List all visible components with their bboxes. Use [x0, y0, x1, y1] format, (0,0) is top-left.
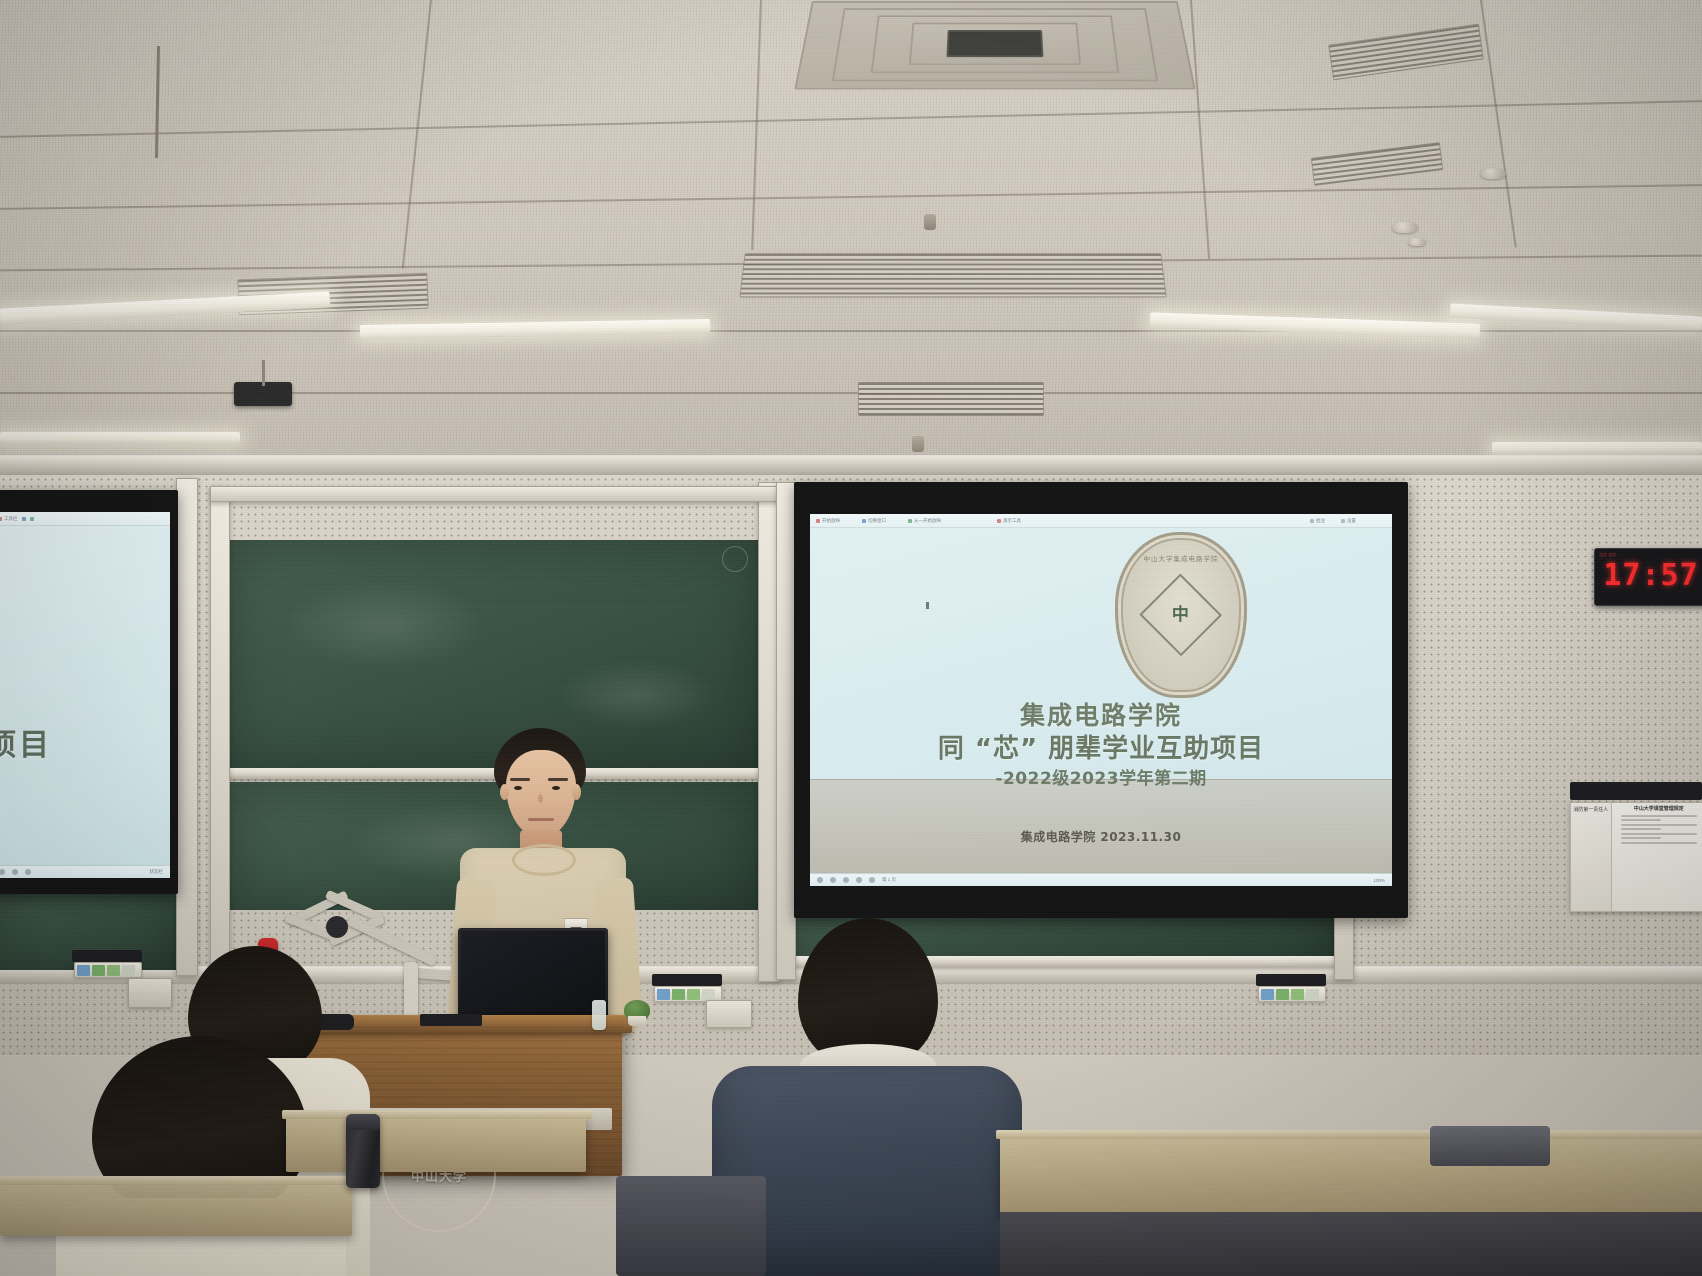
label-icon: [1261, 989, 1274, 1000]
presenter-ear-left: [500, 784, 509, 800]
label-icon: [1306, 989, 1319, 1000]
plant-pot: [628, 1016, 646, 1026]
thermos-cap: [346, 1114, 380, 1130]
ppt-toolbar[interactable]: 开始放映 切换窗口 从一开始放映 演示工具 批注: [810, 514, 1392, 528]
board-frame-right-left: [776, 482, 796, 980]
mouse-cursor-icon: [926, 602, 929, 609]
tools-icon: [997, 519, 1001, 523]
presenter-brow-right: [548, 778, 568, 781]
presenter-nose: [538, 794, 543, 803]
left-statusbar-label: 状态栏: [150, 869, 164, 875]
ppt-slide: 中山大学集成电路学院 中 集成电路学院 同 “芯” 朋辈学业互助项目 -2022…: [810, 528, 1392, 873]
air-vent-icon: [795, 1, 1191, 86]
podium-monitor-screen: [461, 931, 605, 1015]
smoke-detector-icon: [1392, 222, 1418, 233]
status-icon-sorter-view[interactable]: [830, 877, 836, 883]
status-icon-reading-view[interactable]: [843, 877, 849, 883]
chair-back[interactable]: [1430, 1126, 1550, 1166]
chair-back[interactable]: [616, 1176, 766, 1276]
notice-line: [1621, 815, 1697, 817]
main-projection-screen[interactable]: 开始放映 切换窗口 从一开始放映 演示工具 批注: [794, 482, 1408, 918]
board-frame-center-top: [210, 486, 780, 502]
statusbar-page-label: 第 1 页: [882, 877, 896, 883]
led-wall-clock: 温度 湿度 17:57: [1594, 548, 1702, 606]
board-frame-left: [176, 478, 198, 976]
label-icon: [122, 965, 135, 976]
ceiling-light-icon: [1492, 442, 1702, 453]
left-projection-screen[interactable]: 工具栏 项目 状态栏: [0, 490, 178, 894]
label-icon: [92, 965, 105, 976]
window-icon: [862, 519, 866, 523]
desk-edge: [0, 1176, 356, 1185]
left-screen-toolbar[interactable]: 工具栏: [0, 512, 170, 526]
presenter-eye-left: [514, 786, 522, 790]
left-screen-slide-text: 项目: [0, 720, 52, 764]
smoke-detector-icon: [1408, 238, 1426, 246]
equipment-label-strip: [1258, 986, 1326, 1002]
play-icon: [816, 519, 820, 523]
desk-edge: [996, 1130, 1702, 1139]
mount-rod: [262, 360, 265, 386]
slide-title-line2: 同 “芯” 朋辈学业互助项目: [810, 728, 1392, 765]
toolbar-item-settings[interactable]: 设置: [1341, 518, 1356, 524]
status-icon-notes[interactable]: [869, 877, 875, 883]
wall-notice-board: 消防第一责任人 中山大学课堂管理规定: [1570, 802, 1702, 912]
board-emblem-icon: [722, 546, 748, 572]
toolbar-item[interactable]: [22, 517, 26, 521]
water-bottle: [592, 1000, 606, 1030]
notice-line: [1621, 833, 1697, 835]
equipment-label-strip: [74, 962, 142, 978]
notice-line: [1621, 824, 1697, 826]
label-icon: [1276, 989, 1289, 1000]
presenter-collar: [512, 844, 576, 876]
status-icon: [25, 869, 31, 875]
presenter-eye-right: [552, 786, 560, 790]
desk-edge: [282, 1110, 592, 1119]
notice-tab-title: 消防第一责任人: [1571, 803, 1611, 813]
wall-rail: [0, 455, 1702, 475]
ppt-statusbar[interactable]: 第 1 页 100%: [810, 873, 1392, 886]
notice-board-header-strip: [1570, 782, 1702, 800]
pen-icon: [1310, 519, 1314, 523]
ceiling-assembly: [0, 0, 1702, 470]
slideshow-icon: [908, 519, 912, 523]
air-vent-icon: [858, 382, 1044, 416]
presenter-brow-left: [510, 778, 530, 781]
emblem-arc-text: 中山大学集成电路学院: [1118, 553, 1244, 563]
status-icon-normal-view[interactable]: [817, 877, 823, 883]
student-desk-left: [286, 1114, 586, 1172]
label-icon: [107, 965, 120, 976]
college-emblem-icon: 中山大学集成电路学院 中: [1115, 532, 1247, 698]
left-screen-statusbar[interactable]: 状态栏: [0, 865, 170, 878]
desk-front-panel: [1000, 1212, 1702, 1276]
gear-icon: [1341, 519, 1345, 523]
black-thermos: [346, 1114, 380, 1188]
notice-line: [1621, 819, 1662, 821]
smoke-detector-icon: [1480, 168, 1506, 179]
toolbar-item-pen[interactable]: 批注: [1310, 518, 1325, 524]
presenter-ear-right: [572, 784, 581, 800]
board-frame-center-left: [210, 486, 230, 980]
notice-line: [1621, 828, 1662, 830]
main-screen-canvas: 开始放映 切换窗口 从一开始放映 演示工具 批注: [810, 514, 1392, 886]
label-icon: [672, 989, 685, 1000]
label-icon: [1291, 989, 1304, 1000]
podium-monitor[interactable]: [458, 928, 608, 1024]
notice-line: [1621, 842, 1697, 844]
emblem-diamond: 中: [1139, 573, 1222, 656]
clock-time-display: 17:57: [1595, 561, 1702, 591]
slide-footer: 集成电路学院 2023.11.30: [810, 828, 1392, 845]
status-icon: [12, 869, 18, 875]
notice-tab: 消防第一责任人: [1571, 803, 1612, 911]
toolbar-item-play[interactable]: 开始放映: [816, 518, 840, 524]
sprinkler-icon: [924, 214, 936, 230]
notice-title: 中山大学课堂管理规定: [1615, 803, 1702, 812]
statusbar-zoom-label[interactable]: 100%: [1373, 878, 1385, 883]
status-icon-slideshow[interactable]: [856, 877, 862, 883]
label-icon: [77, 965, 90, 976]
toolbar-item[interactable]: 工具栏: [0, 516, 18, 522]
toolbar-item-tools[interactable]: 演示工具: [997, 518, 1021, 524]
label-icon: [657, 989, 670, 1000]
emblem-center-char: 中: [1173, 606, 1190, 623]
notice-content: 中山大学课堂管理规定: [1615, 803, 1702, 911]
toolbar-item-window[interactable]: 切换窗口: [862, 518, 886, 524]
slide-subtitle: -2022级2023学年第二期: [810, 764, 1392, 789]
label-icon: [687, 989, 700, 1000]
presenter-mouth: [528, 818, 554, 821]
slide-lower-band: [810, 779, 1392, 873]
air-vent-icon: [739, 253, 1166, 297]
toolbar-item[interactable]: [30, 517, 34, 521]
sprinkler-icon: [912, 436, 924, 452]
left-screen-canvas: 工具栏 项目 状态栏: [0, 512, 170, 878]
slide-title-line1: 集成电路学院: [810, 696, 1392, 732]
student-desk-front-left: [0, 1182, 352, 1236]
equipment-dark-strip: [72, 950, 142, 962]
status-icon: [0, 869, 5, 875]
lecture-hall-scene: 工具栏 项目 状态栏 开始放映: [0, 0, 1702, 1276]
podium-keyboard[interactable]: [420, 1014, 482, 1026]
notice-line: [1621, 837, 1662, 839]
toolbar-item-slideshow[interactable]: 从一开始放映: [908, 518, 941, 524]
ceiling-light-icon: [0, 432, 240, 443]
equipment-dark-strip: [1256, 974, 1326, 986]
student-desk-right: [1000, 1136, 1702, 1216]
